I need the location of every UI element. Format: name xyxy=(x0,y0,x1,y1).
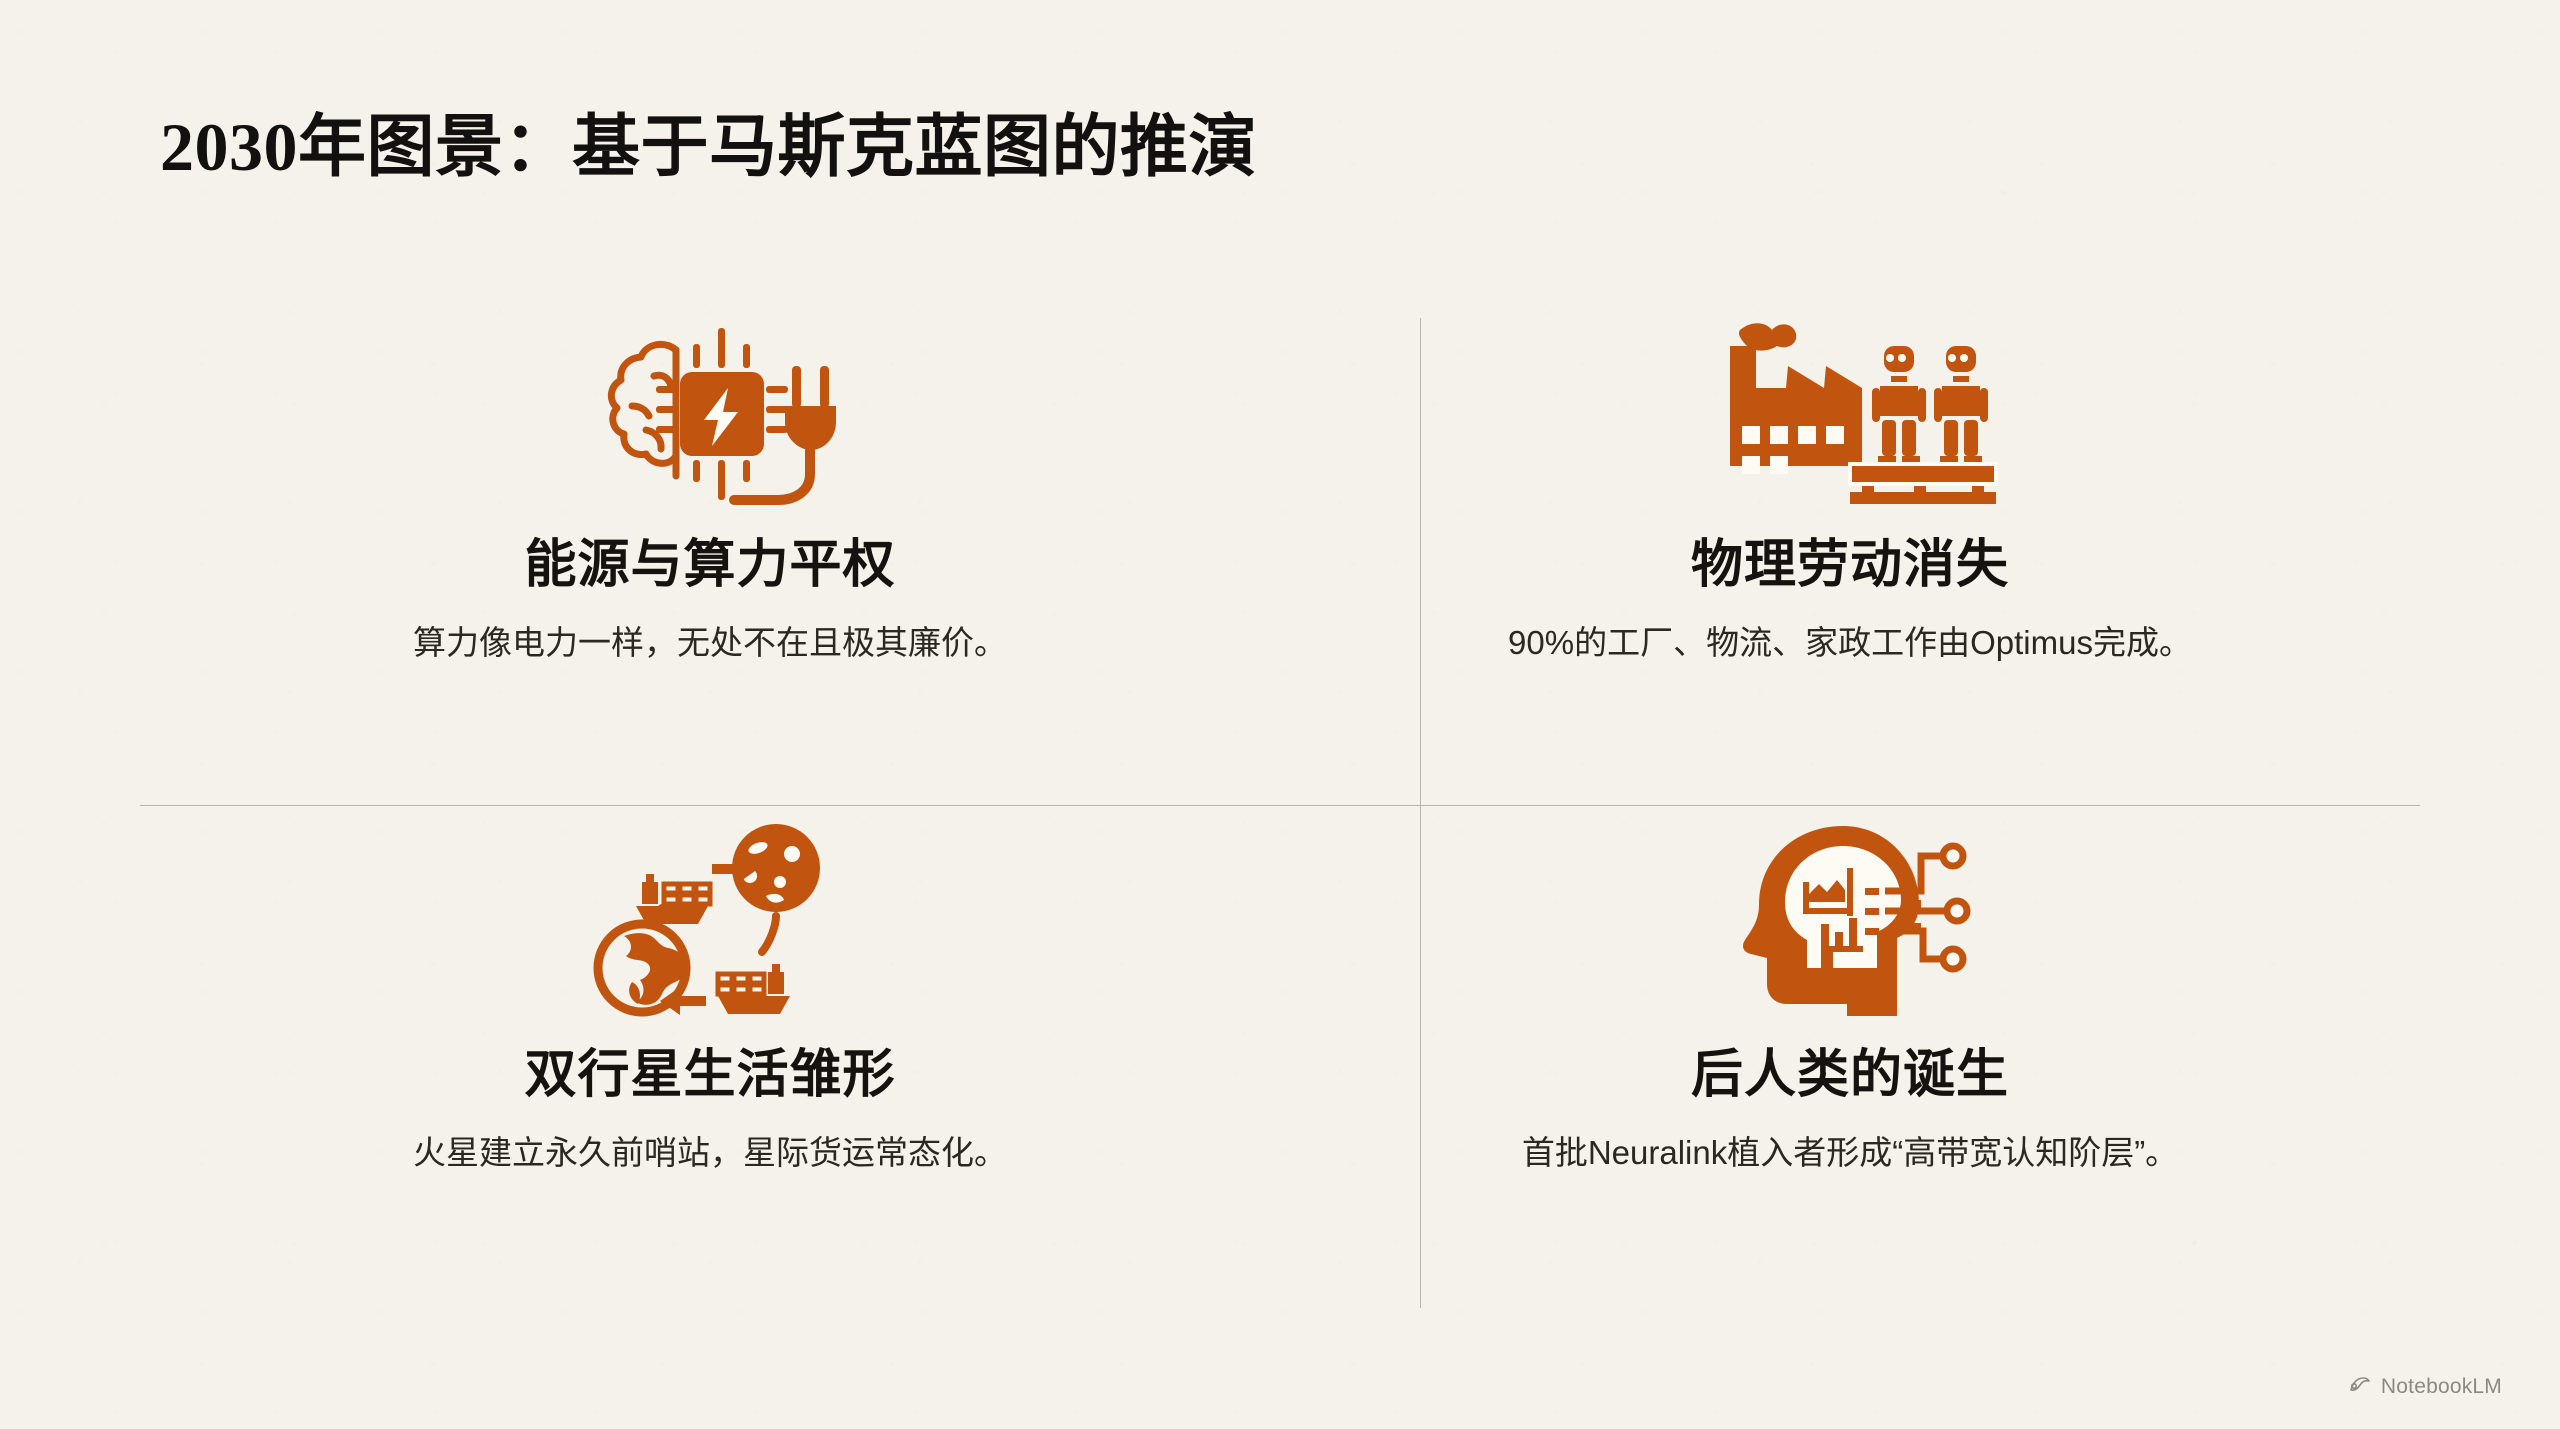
quadrant-card-1[interactable]: 能源与算力平权 算力像电力一样，无处不在且极其廉价。 xyxy=(140,300,1280,800)
quadrant-description: 首批Neuralink植入者形成“高带宽认知阶层”。 xyxy=(1522,1130,2178,1176)
quadrant-title: 能源与算力平权 xyxy=(524,536,895,596)
notebooklm-logo-icon xyxy=(2348,1374,2372,1399)
quadrant-card-2[interactable]: 物理劳动消失 90%的工厂、物流、家政工作由Optimus完成。 xyxy=(1280,300,2420,800)
page-title: 2030年图景：基于马斯克蓝图的推演 xyxy=(160,112,1257,183)
earth-mars-cargo-cycle-icon xyxy=(580,820,840,1020)
quadrant-description: 火星建立永久前哨站，星际货运常态化。 xyxy=(413,1130,1007,1176)
brain-chip-plug-icon xyxy=(580,310,840,510)
quadrant-grid: 能源与算力平权 算力像电力一样，无处不在且极其廉价。 xyxy=(140,300,2420,1300)
notebooklm-watermark: NotebookLM xyxy=(2348,1374,2502,1399)
quadrant-card-4[interactable]: 后人类的诞生 首批Neuralink植入者形成“高带宽认知阶层”。 xyxy=(1280,810,2420,1310)
quadrant-card-3[interactable]: 双行星生活雏形 火星建立永久前哨站，星际货运常态化。 xyxy=(140,810,1280,1310)
watermark-label: NotebookLM xyxy=(2381,1375,2502,1399)
head-neural-circuit-icon xyxy=(1725,820,1975,1020)
quadrant-title: 物理劳动消失 xyxy=(1691,536,2009,596)
quadrant-description: 90%的工厂、物流、家政工作由Optimus完成。 xyxy=(1508,620,2192,666)
factory-robots-conveyor-icon xyxy=(1700,310,2000,510)
quadrant-title: 双行星生活雏形 xyxy=(524,1046,895,1106)
quadrant-description: 算力像电力一样，无处不在且极其廉价。 xyxy=(413,620,1007,666)
quadrant-title: 后人类的诞生 xyxy=(1691,1046,2009,1106)
horizontal-divider xyxy=(140,805,2420,806)
slide-canvas: 2030年图景：基于马斯克蓝图的推演 xyxy=(0,0,2560,1429)
